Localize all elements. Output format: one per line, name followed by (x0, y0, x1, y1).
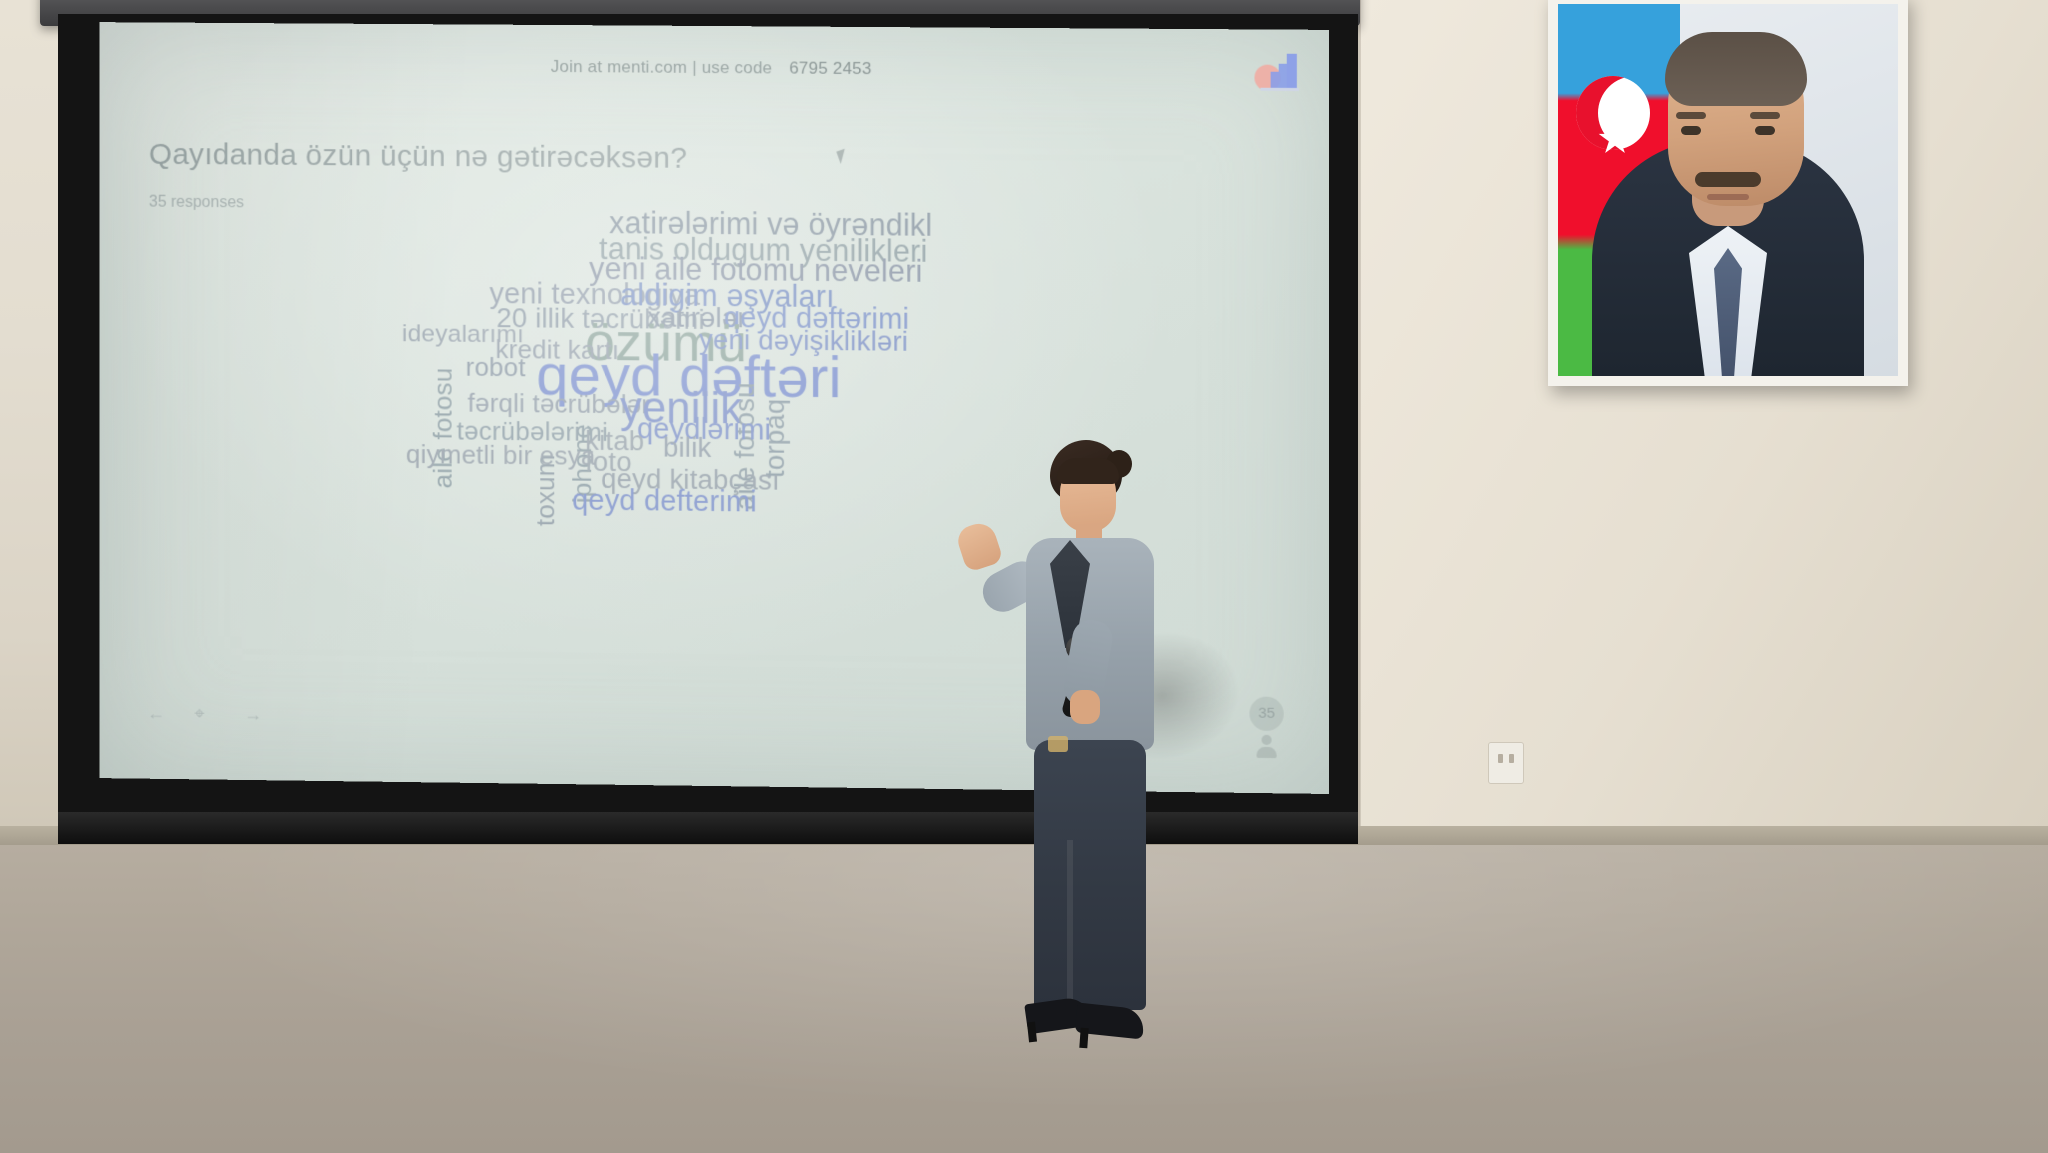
presenter-trousers (1034, 740, 1146, 1010)
wall-corner (1358, 0, 1361, 845)
framed-portrait (1548, 0, 1908, 386)
room-photo: Join at menti.com | use code 6795 2453 Q… (0, 0, 2048, 1153)
presenter-left-hand (1070, 690, 1100, 724)
presenter (960, 440, 1180, 1130)
presenter-right-hand (954, 519, 1004, 573)
wall-outlet-icon (1488, 742, 1524, 784)
